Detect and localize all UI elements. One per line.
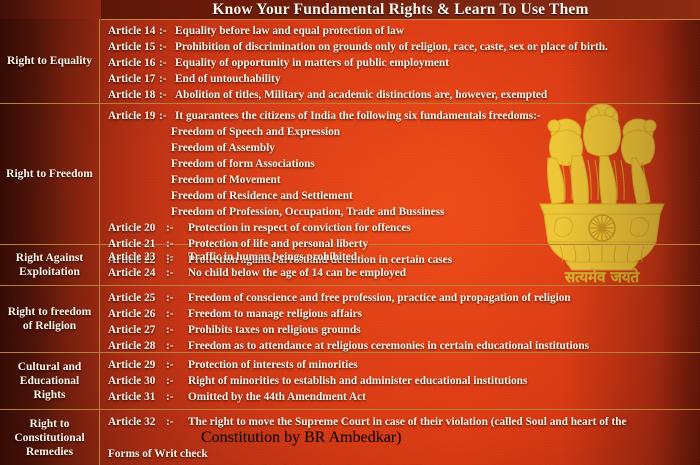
- article-sub-item: Freedom of Speech and Expression: [171, 124, 340, 140]
- article-label: Article 19: [108, 108, 155, 124]
- article-sub-item: Freedom of Residence and Settlement: [171, 188, 353, 204]
- row-header-exploit: Right Against Exploitation: [0, 245, 100, 285]
- article-separator: :-: [159, 55, 167, 71]
- article-label: Article 26: [108, 306, 155, 322]
- article-label: Article 23: [108, 249, 155, 265]
- row-body-cultural: Article 29:-Protection of interests of m…: [101, 353, 700, 409]
- article-label: Article 25: [108, 290, 155, 306]
- article-line: Article 17:-End of untouchability: [101, 71, 700, 87]
- page-title: Know Your Fundamental Rights & Learn To …: [212, 1, 588, 19]
- row-body-equality: Article 14:-Equality before law and equa…: [101, 19, 700, 103]
- article-sub-item: Freedom of Movement: [171, 172, 281, 188]
- article-line: Freedom of Residence and Settlement: [101, 188, 700, 204]
- article-label: Article 16: [108, 55, 155, 71]
- article-line: Constitution by BR Ambedkar): [101, 430, 700, 446]
- article-line: Article 26:-Freedom to manage religious …: [101, 306, 700, 322]
- article-label: Article 17: [108, 71, 155, 87]
- article-label: Article 30: [108, 373, 155, 389]
- article-sub-item: Freedom of Assembly: [171, 140, 275, 156]
- article-label: Article 15: [108, 39, 155, 55]
- article-line: Article 25:-Freedom of conscience and fr…: [101, 290, 700, 306]
- row-header-label: Right to freedom of Religion: [0, 305, 99, 333]
- infographic-poster: सत्यमेव जयते Know Your Fundamental Right…: [0, 0, 700, 465]
- article-description: Omitted by the 44th Amendment Act: [188, 389, 366, 405]
- article-description: Right of minorities to establish and adm…: [188, 373, 527, 389]
- row-header-label: Right to Equality: [4, 54, 95, 68]
- rights-row-religion: Right to freedom of ReligionArticle 25:-…: [0, 286, 700, 353]
- article-separator: :-: [166, 322, 174, 338]
- article-description: No child below the age of 14 can be empl…: [188, 265, 406, 281]
- article-separator: :-: [166, 357, 174, 373]
- article-plain-text: Forms of Writ check: [108, 446, 208, 462]
- article-separator: :-: [166, 265, 174, 281]
- article-description: Equality before law and equal protection…: [175, 23, 404, 39]
- article-label: Article 28: [108, 338, 155, 354]
- article-label: Article 20: [108, 220, 155, 236]
- article-label: Article 27: [108, 322, 155, 338]
- article-line: Freedom of Assembly: [101, 140, 700, 156]
- article-line: Article 23:-Traffic in human beings proh…: [101, 249, 700, 265]
- article-description: Freedom to manage religious affairs: [188, 306, 362, 322]
- row-header-label: Right to Constitutional Remedies: [0, 417, 99, 459]
- article-description: Protection in respect of conviction for …: [188, 220, 411, 236]
- article-line: Freedom of Speech and Expression: [101, 124, 700, 140]
- row-header-label: Right Against Exploitation: [0, 251, 99, 279]
- row-header-equality: Right to Equality: [0, 19, 100, 103]
- article-line: Article 16:-Equality of opportunity in m…: [101, 55, 700, 71]
- article-line: Article 31:-Omitted by the 44th Amendmen…: [101, 389, 700, 405]
- article-line: Freedom of Movement: [101, 172, 700, 188]
- article-label: Article 29: [108, 357, 155, 373]
- article-label: Article 31: [108, 389, 155, 405]
- article-description: Prohibits taxes on religious grounds: [188, 322, 361, 338]
- row-body-exploit: Article 23:-Traffic in human beings proh…: [101, 245, 700, 285]
- article-description: Equality of opportunity in matters of pu…: [175, 55, 449, 71]
- article-label: Article 18: [108, 87, 155, 103]
- article-description: Freedom of conscience and free professio…: [188, 290, 571, 306]
- rights-row-cultural: Cultural and Educational RightsArticle 2…: [0, 353, 700, 410]
- article-description: End of untouchability: [175, 71, 280, 87]
- article-separator: :-: [159, 23, 167, 39]
- article-separator: :-: [166, 389, 174, 405]
- article-line: Article 14:-Equality before law and equa…: [101, 23, 700, 39]
- article-line: Article 30:-Right of minorities to estab…: [101, 373, 700, 389]
- article-separator: :-: [166, 306, 174, 322]
- article-description: Abolition of titles, Military and academ…: [175, 87, 547, 103]
- row-body-religion: Article 25:-Freedom of conscience and fr…: [101, 286, 700, 352]
- rights-row-exploit: Right Against ExploitationArticle 23:-Tr…: [0, 245, 700, 286]
- article-separator: :-: [159, 87, 167, 103]
- row-body-freedom: Article 19:-It guarantees the citizens o…: [101, 104, 700, 244]
- article-description: Protection of interests of minorities: [188, 357, 358, 373]
- row-header-religion: Right to freedom of Religion: [0, 286, 100, 352]
- row-header-freedom: Right to Freedom: [0, 104, 100, 244]
- rights-row-freedom: Right to FreedomArticle 19:-It guarantee…: [0, 104, 700, 245]
- article-separator: :-: [166, 220, 174, 236]
- article-description-continued: Constitution by BR Ambedkar): [201, 430, 401, 446]
- row-body-remedies: Article 32:-The right to move the Suprem…: [101, 410, 700, 465]
- article-line: Article 18:-Abolition of titles, Militar…: [101, 87, 700, 103]
- rights-row-remedies: Right to Constitutional RemediesArticle …: [0, 410, 700, 465]
- article-line: Freedom of Profession, Occupation, Trade…: [101, 204, 700, 220]
- article-description: Freedom as to attendance at religious ce…: [188, 338, 589, 354]
- row-header-cultural: Cultural and Educational Rights: [0, 353, 100, 409]
- article-sub-item: Freedom of Profession, Occupation, Trade…: [171, 204, 444, 220]
- article-line: Article 15:-Prohibition of discriminatio…: [101, 39, 700, 55]
- article-separator: :-: [166, 373, 174, 389]
- article-line: Article 19:-It guarantees the citizens o…: [101, 108, 700, 124]
- article-line: Article 24:-No child below the age of 14…: [101, 265, 700, 281]
- article-description: It guarantees the citizens of India the …: [175, 108, 541, 124]
- article-line: Article 29:-Protection of interests of m…: [101, 357, 700, 373]
- article-line: Article 27:-Prohibits taxes on religious…: [101, 322, 700, 338]
- article-line: Forms of Writ check: [101, 446, 700, 462]
- article-description: Traffic in human beings prohibited: [188, 249, 357, 265]
- row-header-label: Cultural and Educational Rights: [0, 360, 99, 402]
- article-separator: :-: [159, 108, 167, 124]
- article-description: The right to move the Supreme Court in c…: [188, 414, 627, 430]
- article-label: Article 14: [108, 23, 155, 39]
- article-label: Article 24: [108, 265, 155, 281]
- row-header-label: Right to Freedom: [3, 167, 96, 181]
- article-sub-item: Freedom of form Associations: [171, 156, 315, 172]
- article-separator: :-: [166, 249, 174, 265]
- article-line: Freedom of form Associations: [101, 156, 700, 172]
- article-line: Article 32:-The right to move the Suprem…: [101, 414, 700, 430]
- rights-table: Right to EqualityArticle 14:-Equality be…: [0, 19, 700, 465]
- article-separator: :-: [159, 39, 167, 55]
- article-line: Article 28:-Freedom as to attendance at …: [101, 338, 700, 354]
- rights-row-equality: Right to EqualityArticle 14:-Equality be…: [0, 19, 700, 104]
- article-separator: :-: [159, 71, 167, 87]
- article-line: Article 20:-Protection in respect of con…: [101, 220, 700, 236]
- poster-header: Know Your Fundamental Rights & Learn To …: [101, 0, 700, 20]
- article-separator: :-: [166, 338, 174, 354]
- article-separator: :-: [166, 414, 174, 430]
- article-label: Article 32: [108, 414, 155, 430]
- article-separator: :-: [166, 290, 174, 306]
- article-description: Prohibition of discrimination on grounds…: [175, 39, 608, 55]
- row-header-remedies: Right to Constitutional Remedies: [0, 410, 100, 465]
